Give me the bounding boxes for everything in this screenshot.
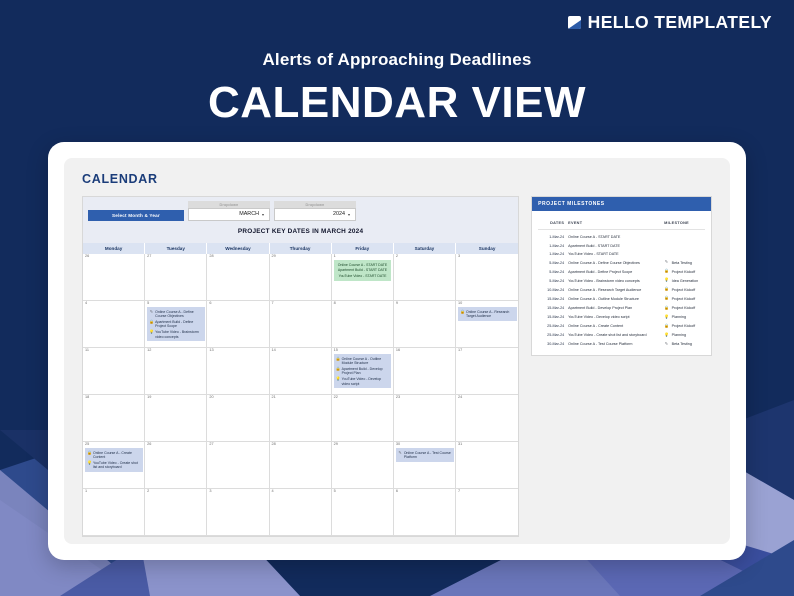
- day-number: 23: [396, 396, 454, 400]
- calendar-event[interactable]: 🔒Apartment Build - Develop Project Plan: [335, 366, 391, 376]
- calendar-event[interactable]: 💡YouTube Video - Develop video script: [335, 376, 391, 386]
- day-number: 5: [334, 490, 392, 494]
- milestone-date: 5-Mar-24: [538, 261, 568, 265]
- day-number: 7: [458, 490, 517, 494]
- milestone-row[interactable]: 5-Mar-24Apartment Build - Define Project…: [538, 267, 705, 276]
- event-text: YouTube Video - START DATE: [339, 274, 387, 278]
- page-subtitle: Alerts of Approaching Deadlines: [0, 50, 794, 70]
- day-number: 19: [147, 396, 205, 400]
- weekday-monday: Monday: [83, 243, 145, 254]
- lock-icon: 🔒: [460, 310, 465, 315]
- day-number: 6: [209, 302, 267, 306]
- calendar-cell[interactable]: 26: [145, 442, 207, 489]
- workspace: Select Month & Year Dropdown MARCH ▾ Dro…: [82, 196, 712, 537]
- lock-icon: 🔒: [149, 320, 154, 325]
- calendar-cell[interactable]: 5: [332, 489, 394, 536]
- bulb-icon: 💡: [336, 377, 341, 382]
- month-value: MARCH: [239, 211, 259, 217]
- day-number: 3: [458, 255, 517, 259]
- milestone-col-event: EVENT: [568, 221, 664, 225]
- calendar-cell[interactable]: 26: [83, 254, 145, 301]
- event-text: Online Course A - Create Content: [93, 451, 141, 460]
- weekday-friday: Friday: [332, 243, 394, 254]
- milestone-row[interactable]: 15-Mar-24Online Course A - Outline Modul…: [538, 294, 705, 303]
- day-number: 18: [85, 396, 143, 400]
- calendar-cell[interactable]: 4: [270, 489, 332, 536]
- milestone-row[interactable]: 30-Mar-24Online Course A - Test Course P…: [538, 340, 705, 349]
- year-dropdown-hint: Dropdown: [274, 201, 356, 208]
- calendar-cell[interactable]: 20: [207, 395, 269, 442]
- calendar-event[interactable]: YouTube Video - START DATE: [335, 274, 391, 280]
- calendar-cell[interactable]: 22: [332, 395, 394, 442]
- year-value: 2024: [333, 211, 345, 217]
- bulb-icon: 💡: [149, 330, 154, 335]
- day-number: 2: [147, 490, 205, 494]
- milestone-date: 5-Mar-24: [538, 270, 568, 274]
- calendar-cell[interactable]: 18: [83, 395, 145, 442]
- milestone-row[interactable]: 25-Mar-24YouTube Video - Create shot lis…: [538, 331, 705, 340]
- calendar-grid: 262728291Online Course A - START DATEApa…: [83, 254, 518, 536]
- calendar-event[interactable]: Online Course A - START DATE: [335, 262, 391, 268]
- calendar-cell[interactable]: 21: [270, 395, 332, 442]
- calendar-event[interactable]: ✎Online Course A - Test Course Platform: [397, 450, 453, 460]
- calendar-cell[interactable]: 5✎Online Course A - Define Course Object…: [145, 301, 207, 348]
- calendar-panel: Select Month & Year Dropdown MARCH ▾ Dro…: [82, 196, 519, 537]
- milestones-rows: 1-Mar-24Online Course A - START DATE1-Ma…: [538, 233, 705, 349]
- event-text: Apartment Build - Define Project Scope: [155, 320, 203, 329]
- calendar-cell[interactable]: 11: [83, 348, 145, 395]
- milestone-label-cell: 🔒Project Kickoff: [664, 287, 705, 292]
- pen-icon: ✎: [398, 451, 403, 456]
- milestone-label: Project Kickoff: [672, 288, 696, 292]
- weekday-sunday: Sunday: [456, 243, 518, 254]
- day-number: 9: [396, 302, 454, 306]
- pen-icon: ✎: [664, 260, 669, 265]
- milestone-label-cell: 🔒Project Kickoff: [664, 269, 705, 274]
- page-title: CALENDAR VIEW: [0, 78, 794, 128]
- milestone-label-cell: 🔒Project Kickoff: [664, 306, 705, 311]
- milestone-date: 25-Mar-24: [538, 324, 568, 328]
- day-number: 29: [334, 443, 392, 447]
- calendar-cell[interactable]: 10🔒Online Course A - Research Target Aud…: [456, 301, 518, 348]
- calendar-cell[interactable]: 1Online Course A - START DATEApartment B…: [332, 254, 394, 301]
- weekday-saturday: Saturday: [394, 243, 456, 254]
- milestone-event: Online Course A - Outline Module Structu…: [568, 297, 664, 301]
- calendar-cell[interactable]: 14: [270, 348, 332, 395]
- calendar-cell[interactable]: 28: [270, 442, 332, 489]
- chevron-down-icon: ▾: [348, 212, 350, 217]
- calendar-event[interactable]: 🔒Apartment Build - Define Project Scope: [148, 319, 204, 329]
- day-number: 5: [147, 302, 205, 306]
- calendar-cell[interactable]: 7: [456, 489, 518, 536]
- calendar-cell[interactable]: 27: [145, 254, 207, 301]
- day-number: 20: [209, 396, 267, 400]
- event-block[interactable]: ✎Online Course A - Test Course Platform: [396, 448, 454, 461]
- calendar-cell[interactable]: 13: [207, 348, 269, 395]
- day-number: 4: [272, 490, 330, 494]
- milestone-event: Apartment Build - START DATE: [568, 244, 664, 248]
- milestone-event: YouTube Video - Create shot list and sto…: [568, 333, 664, 337]
- milestone-event: YouTube Video - START DATE: [568, 252, 664, 256]
- milestone-date: 15-Mar-24: [538, 306, 568, 310]
- day-number: 28: [272, 443, 330, 447]
- day-number: 27: [147, 255, 205, 259]
- milestone-row[interactable]: 5-Mar-24YouTube Video - Brainstorm video…: [538, 276, 705, 285]
- calendar-cell[interactable]: 31: [456, 442, 518, 489]
- bulb-icon: 💡: [664, 315, 669, 320]
- milestone-label-cell: 💡Planning: [664, 333, 705, 338]
- milestone-label: Project Kickoff: [672, 270, 696, 274]
- milestone-label-cell: 💡Idea Generation: [664, 278, 705, 283]
- day-number: 21: [272, 396, 330, 400]
- milestone-event: Apartment Build - Develop Project Plan: [568, 306, 664, 310]
- day-number: 7: [272, 302, 330, 306]
- calendar-cell[interactable]: 16: [394, 348, 456, 395]
- calendar-cell[interactable]: 19: [145, 395, 207, 442]
- day-number: 13: [209, 349, 267, 353]
- calendar-cell[interactable]: 7: [270, 301, 332, 348]
- milestone-label-cell: ✎Beta Testing: [664, 342, 705, 347]
- milestone-label-cell: 🔒Project Kickoff: [664, 324, 705, 329]
- lock-icon: 🔒: [664, 306, 669, 311]
- milestone-date: 1-Mar-24: [538, 235, 568, 239]
- calendar-event[interactable]: 💡YouTube Video - Brainstorm video concep…: [148, 329, 204, 339]
- lock-icon: 🔒: [664, 287, 669, 292]
- calendar-cell[interactable]: 2: [145, 489, 207, 536]
- month-select[interactable]: MARCH ▾: [188, 208, 270, 220]
- event-text: Online Course A - Define Course Objectiv…: [155, 310, 203, 319]
- month-year-controls: Select Month & Year Dropdown MARCH ▾ Dro…: [88, 201, 513, 221]
- day-number: 29: [272, 255, 330, 259]
- day-number: 14: [272, 349, 330, 353]
- calendar-caption: PROJECT KEY DATES IN MARCH 2024: [88, 221, 513, 240]
- calendar-cell[interactable]: 27: [207, 442, 269, 489]
- device-frame: CALENDAR Select Month & Year Dropdown MA…: [48, 142, 746, 560]
- day-number: 8: [334, 302, 392, 306]
- calendar-cell[interactable]: 6: [394, 489, 456, 536]
- day-number: 10: [458, 302, 517, 306]
- lock-icon: 🔒: [664, 269, 669, 274]
- lock-icon: 🔒: [664, 296, 669, 301]
- day-number: 16: [396, 349, 454, 353]
- calendar-cell[interactable]: 4: [83, 301, 145, 348]
- milestone-date: 10-Mar-24: [538, 288, 568, 292]
- calendar-cell[interactable]: 30✎Online Course A - Test Course Platfor…: [394, 442, 456, 489]
- event-text: Apartment Build - START DATE: [338, 268, 387, 272]
- event-text: YouTube Video - Develop video script: [342, 377, 390, 386]
- event-text: Online Course A - Research Target Audien…: [466, 310, 515, 319]
- calendar-cell[interactable]: 29: [270, 254, 332, 301]
- event-block[interactable]: ✎Online Course A - Define Course Objecti…: [147, 307, 205, 341]
- day-number: 2: [396, 255, 454, 259]
- lock-icon: 🔒: [664, 324, 669, 329]
- chevron-down-icon: ▾: [262, 212, 264, 217]
- month-dropdown[interactable]: Dropdown MARCH ▾: [188, 201, 270, 221]
- calendar-cell[interactable]: 28: [207, 254, 269, 301]
- milestone-event: Online Course A - Research Target Audien…: [568, 288, 664, 292]
- weekday-thursday: Thursday: [270, 243, 332, 254]
- pen-icon: ✎: [664, 342, 669, 347]
- calendar-cell[interactable]: 3: [456, 254, 518, 301]
- milestone-event: Online Course A - Test Course Platform: [568, 342, 664, 346]
- day-number: 28: [209, 255, 267, 259]
- milestone-event: Online Course A - Define Course Objectiv…: [568, 261, 664, 265]
- calendar-cell[interactable]: 6: [207, 301, 269, 348]
- lock-icon: 🔒: [336, 357, 341, 362]
- day-number: 27: [209, 443, 267, 447]
- milestone-label: Project Kickoff: [672, 306, 696, 310]
- event-text: Online Course A - START DATE: [338, 263, 388, 267]
- milestone-row[interactable]: 25-Mar-24Online Course A - Create Conten…: [538, 322, 705, 331]
- event-text: Apartment Build - Develop Project Plan: [342, 367, 390, 376]
- calendar-event[interactable]: 🔒Online Course A - Research Target Audie…: [459, 309, 516, 319]
- milestone-event: YouTube Video - Brainstorm video concept…: [568, 279, 664, 283]
- calendar-cell[interactable]: 8: [332, 301, 394, 348]
- calendar-cell[interactable]: 9: [394, 301, 456, 348]
- milestone-event: Apartment Build - Define Project Scope: [568, 270, 664, 274]
- milestone-row[interactable]: 1-Mar-24YouTube Video - START DATE: [538, 250, 705, 258]
- calendar-cell[interactable]: 29: [332, 442, 394, 489]
- calendar-cell[interactable]: 15🔒Online Course A - Outline Module Stru…: [332, 348, 394, 395]
- day-number: 4: [85, 302, 143, 306]
- milestone-label: Project Kickoff: [672, 324, 696, 328]
- bulb-icon: 💡: [664, 278, 669, 283]
- day-number: 26: [85, 255, 143, 259]
- day-number: 15: [334, 349, 392, 353]
- day-number: 26: [147, 443, 205, 447]
- day-number: 17: [458, 349, 517, 353]
- milestone-label: Project Kickoff: [672, 297, 696, 301]
- milestone-row[interactable]: 1-Mar-24Apartment Build - START DATE: [538, 241, 705, 249]
- weekday-tuesday: Tuesday: [145, 243, 207, 254]
- milestone-label-cell: 🔒Project Kickoff: [664, 296, 705, 301]
- event-text: Online Course A - Outline Module Structu…: [342, 357, 390, 366]
- milestone-label: Beta Testing: [672, 261, 692, 265]
- day-number: 3: [209, 490, 267, 494]
- milestone-event: YouTube Video - Develop video script: [568, 315, 664, 319]
- milestone-date: 30-Mar-24: [538, 342, 568, 346]
- day-number: 30: [396, 443, 454, 447]
- day-number: 6: [396, 490, 454, 494]
- milestone-label-cell: ✎Beta Testing: [664, 260, 705, 265]
- logo-mark-icon: [568, 16, 581, 29]
- select-month-year-button[interactable]: Select Month & Year: [88, 210, 184, 221]
- milestones-panel: PROJECT MILESTONES DATESEVENTMILESTONE 1…: [531, 196, 712, 356]
- day-number: 31: [458, 443, 517, 447]
- milestone-event: Online Course A - Create Content: [568, 324, 664, 328]
- calendar-event[interactable]: 🔒Online Course A - Outline Module Struct…: [335, 356, 391, 366]
- milestone-label-cell: 💡Planning: [664, 315, 705, 320]
- milestone-row[interactable]: 15-Mar-24Apartment Build - Develop Proje…: [538, 303, 705, 312]
- event-text: YouTube Video - Brainstorm video concept…: [155, 330, 203, 339]
- day-number: 24: [458, 396, 517, 400]
- milestone-date: 1-Mar-24: [538, 252, 568, 256]
- event-text: Online Course A - Test Course Platform: [404, 451, 452, 460]
- day-number: 1: [85, 490, 143, 494]
- spreadsheet-screen: CALENDAR Select Month & Year Dropdown MA…: [64, 158, 730, 544]
- milestone-row[interactable]: 10-Mar-24Online Course A - Research Targ…: [538, 285, 705, 294]
- milestones-title: PROJECT MILESTONES: [532, 197, 711, 211]
- milestone-row[interactable]: 5-Mar-24Online Course A - Define Course …: [538, 258, 705, 267]
- milestone-label: Planning: [672, 315, 686, 319]
- milestones-body: DATESEVENTMILESTONE 1-Mar-24Online Cours…: [532, 211, 711, 355]
- milestone-row[interactable]: 15-Mar-24YouTube Video - Develop video s…: [538, 312, 705, 321]
- event-text: YouTube Video - Create shot list and sto…: [93, 461, 141, 470]
- year-select[interactable]: 2024 ▾: [274, 208, 356, 220]
- milestone-date: 15-Mar-24: [538, 315, 568, 319]
- lock-icon: 🔒: [336, 367, 341, 372]
- calendar-cell[interactable]: 23: [394, 395, 456, 442]
- calendar-event[interactable]: 💡YouTube Video - Create shot list and st…: [86, 460, 142, 470]
- weekday-header: MondayTuesdayWednesdayThursdayFridaySatu…: [83, 243, 518, 254]
- weekday-wednesday: Wednesday: [207, 243, 269, 254]
- milestone-row[interactable]: 1-Mar-24Online Course A - START DATE: [538, 233, 705, 241]
- day-number: 12: [147, 349, 205, 353]
- brand-logo: HELLO TEMPLATELY: [568, 12, 772, 33]
- calendar-event[interactable]: 🔒Online Course A - Create Content: [86, 450, 142, 460]
- milestone-label: Planning: [672, 333, 686, 337]
- calendar-cell[interactable]: 2: [394, 254, 456, 301]
- milestones-column-headers: DATESEVENTMILESTONE: [538, 219, 705, 230]
- bulb-icon: 💡: [87, 461, 92, 466]
- sheet-title: CALENDAR: [82, 172, 712, 186]
- event-block[interactable]: 🔒Online Course A - Research Target Audie…: [458, 307, 517, 320]
- milestone-date: 15-Mar-24: [538, 297, 568, 301]
- milestone-col-milestone: MILESTONE: [664, 221, 705, 225]
- event-block[interactable]: 🔒Online Course A - Outline Module Struct…: [334, 354, 392, 388]
- calendar-event[interactable]: ✎Online Course A - Define Course Objecti…: [148, 309, 204, 319]
- calendar-cell[interactable]: 1: [83, 489, 145, 536]
- day-number: 1: [334, 255, 392, 259]
- milestone-label: Idea Generation: [672, 279, 698, 283]
- calendar-cell[interactable]: 17: [456, 348, 518, 395]
- event-block[interactable]: 🔒Online Course A - Create Content💡YouTub…: [85, 448, 143, 472]
- day-number: 11: [85, 349, 143, 353]
- milestone-date: 1-Mar-24: [538, 244, 568, 248]
- month-dropdown-hint: Dropdown: [188, 201, 270, 208]
- calendar-cell[interactable]: 24: [456, 395, 518, 442]
- calendar-toolbar: Select Month & Year Dropdown MARCH ▾ Dro…: [83, 197, 518, 243]
- milestone-col-dates: DATES: [538, 221, 568, 225]
- calendar-cell[interactable]: 12: [145, 348, 207, 395]
- year-dropdown[interactable]: Dropdown 2024 ▾: [274, 201, 356, 221]
- calendar-cell[interactable]: 3: [207, 489, 269, 536]
- day-number: 22: [334, 396, 392, 400]
- event-block[interactable]: Online Course A - START DATEApartment Bu…: [334, 260, 392, 281]
- day-number: 25: [85, 443, 143, 447]
- milestone-date: 5-Mar-24: [538, 279, 568, 283]
- brand-name: HELLO TEMPLATELY: [588, 12, 772, 33]
- lock-icon: 🔒: [87, 451, 92, 456]
- bulb-icon: 💡: [664, 333, 669, 338]
- milestone-label: Beta Testing: [672, 342, 692, 346]
- milestone-date: 25-Mar-24: [538, 333, 568, 337]
- calendar-cell[interactable]: 25🔒Online Course A - Create Content💡YouT…: [83, 442, 145, 489]
- calendar-event[interactable]: Apartment Build - START DATE: [335, 268, 391, 274]
- milestone-event: Online Course A - START DATE: [568, 235, 664, 239]
- pen-icon: ✎: [149, 310, 154, 315]
